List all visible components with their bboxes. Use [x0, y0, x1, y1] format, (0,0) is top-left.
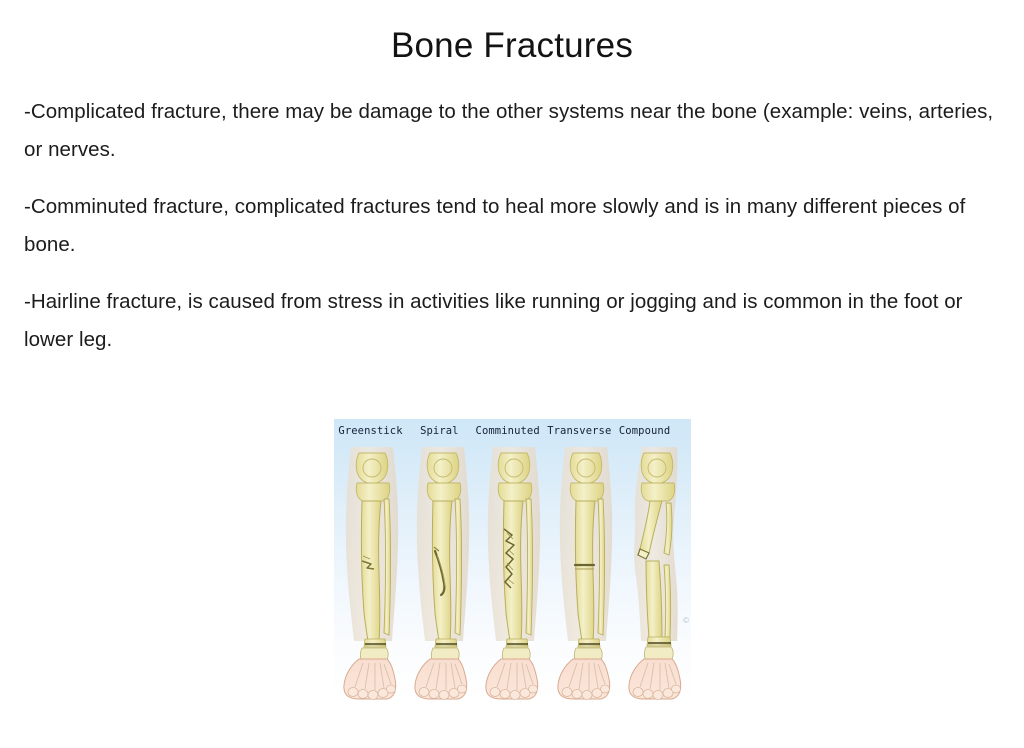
- label-spiral: Spiral: [407, 419, 472, 443]
- label-comminuted: Comminuted: [472, 419, 544, 443]
- page-title: Bone Fractures: [0, 26, 1024, 66]
- bone-fracture-diagram: Greenstick Spiral Comminuted Transverse …: [334, 419, 691, 701]
- label-transverse: Transverse: [544, 419, 615, 443]
- label-greenstick: Greenstick: [334, 419, 407, 443]
- bullet-hairline-fracture: -Hairline fracture, is caused from stres…: [24, 283, 999, 359]
- panel-comminuted: [479, 443, 551, 701]
- bullet-comminuted-fracture: -Comminuted fracture, complicated fractu…: [24, 188, 999, 264]
- panel-greenstick: [337, 443, 409, 701]
- panel-transverse: [551, 443, 623, 701]
- label-compound: Compound: [615, 419, 691, 443]
- copyright-watermark: ©: [683, 616, 689, 625]
- bullet-complicated-fracture: -Complicated fracture, there may be dama…: [24, 93, 999, 169]
- fracture-panels: [334, 443, 691, 701]
- panel-compound: [622, 443, 691, 701]
- fracture-label-row: Greenstick Spiral Comminuted Transverse …: [334, 419, 691, 443]
- slide-body: -Complicated fracture, there may be dama…: [24, 93, 999, 359]
- panel-spiral: [408, 443, 480, 701]
